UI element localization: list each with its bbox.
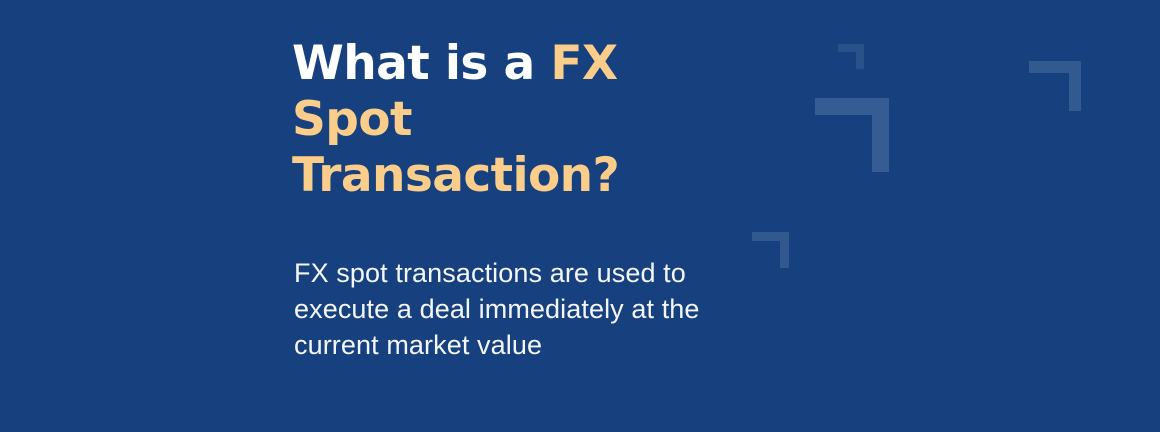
corner-bracket-icon-right — [1029, 61, 1081, 111]
page-title: What is a FX SpotTransaction? — [292, 36, 722, 204]
infographic-card: What is a FX SpotTransaction? FX spot tr… — [0, 0, 1160, 432]
headline-plain-segment: What is a — [292, 36, 550, 91]
body-copy: FX spot transactions are used to execute… — [294, 255, 764, 363]
corner-bracket-icon-large — [815, 98, 889, 172]
headline-accent-segment-two: Transaction? — [292, 148, 619, 203]
corner-bracket-icon-small — [838, 44, 864, 69]
